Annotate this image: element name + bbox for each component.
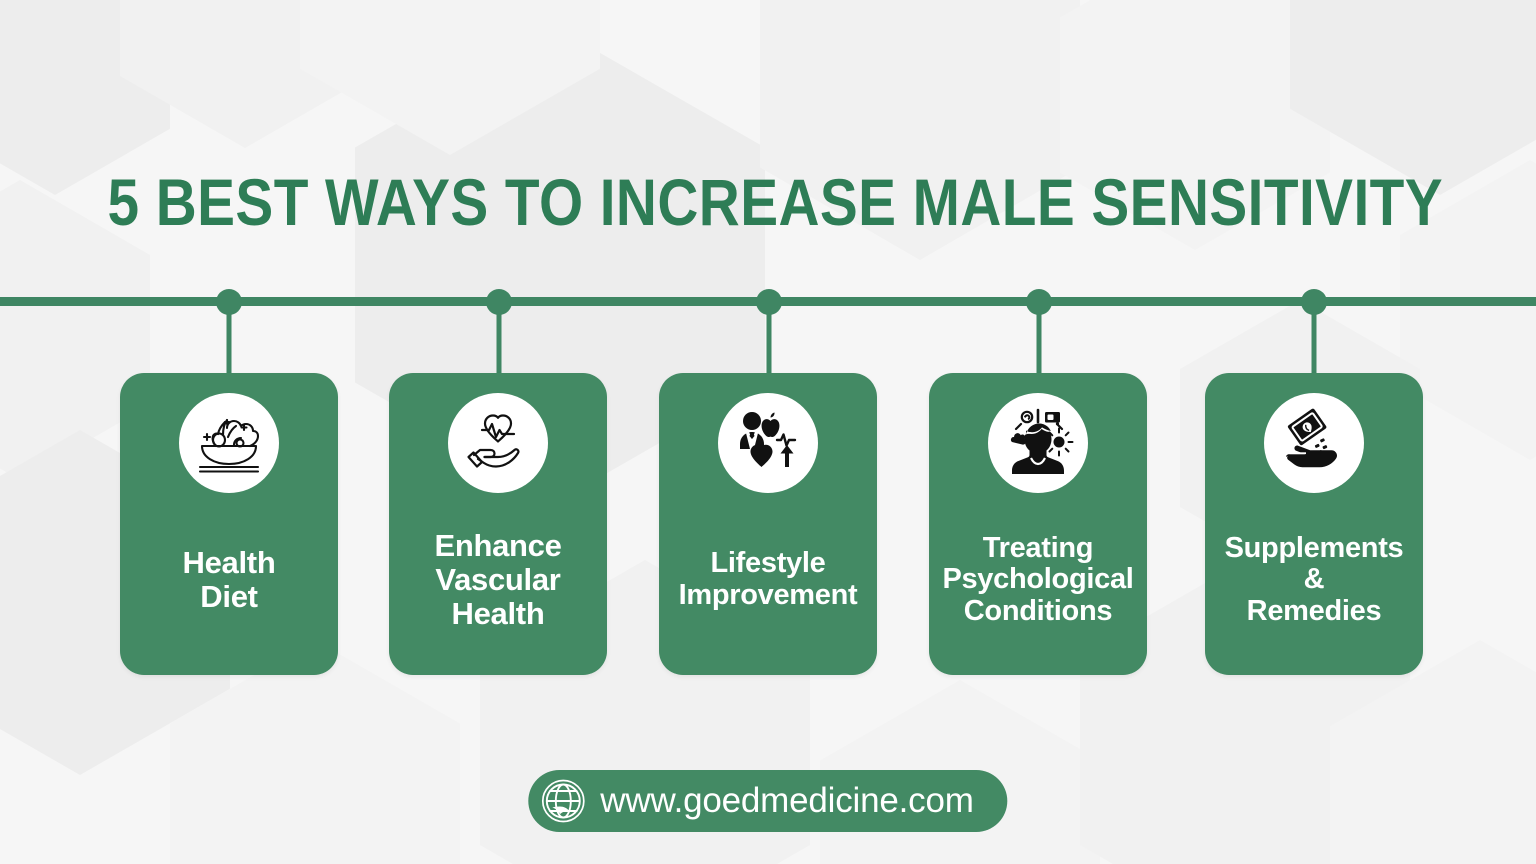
card-health-diet[interactable]: Health Diet <box>120 373 338 675</box>
card-supplements-remedies[interactable]: Supplements & Remedies <box>1205 373 1423 675</box>
card-label: Treating Psychological Conditions <box>929 493 1147 675</box>
card-lifestyle-improvement[interactable]: Lifestyle Improvement <box>659 373 877 675</box>
supplement-packet-hand-icon <box>1264 393 1364 493</box>
globe-icon <box>540 778 586 824</box>
stressed-head-icon <box>988 393 1088 493</box>
timeline-stem-1 <box>227 310 232 374</box>
infographic-poster: 5 BEST WAYS TO INCREASE MALE SENSITIVITY… <box>0 0 1536 864</box>
card-label: Health Diet <box>120 493 338 675</box>
card-enhance-vascular-health[interactable]: Enhance Vascular Health <box>389 373 607 675</box>
page-title: 5 BEST WAYS TO INCREASE MALE SENSITIVITY <box>108 168 1429 237</box>
card-label: Enhance Vascular Health <box>389 493 607 675</box>
card-label: Lifestyle Improvement <box>659 493 877 675</box>
salad-bowl-icon <box>179 393 279 493</box>
timeline-stem-4 <box>1037 310 1042 374</box>
hand-holding-heart-pulse-icon <box>448 393 548 493</box>
website-badge[interactable]: www.goedmedicine.com <box>528 770 1007 832</box>
timeline-stem-2 <box>497 310 502 374</box>
card-label: Supplements & Remedies <box>1205 493 1423 675</box>
website-url: www.goedmedicine.com <box>600 781 973 821</box>
timeline-stem-5 <box>1312 310 1317 374</box>
card-treating-psychological-conditions[interactable]: Treating Psychological Conditions <box>929 373 1147 675</box>
timeline-stem-3 <box>767 310 772 374</box>
person-apple-heart-arrow-icon <box>718 393 818 493</box>
